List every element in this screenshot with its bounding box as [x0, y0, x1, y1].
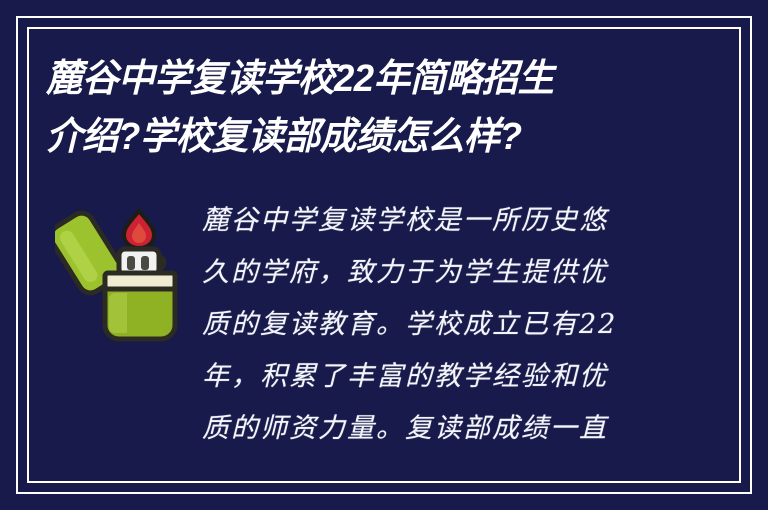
- article-paragraph: 麓谷中学复读学校是一所历史悠 久的学府，致力于为学生提供优 质的复读教育。学校成…: [194, 195, 722, 455]
- article-line: 质的师资力量。复读部成绩一直: [202, 403, 722, 455]
- page-title-line-1: 麓谷中学复读学校22年简略招生: [46, 50, 680, 108]
- page-title: 麓谷中学复读学校22年简略招生 介绍?学校复读部成绩怎么样?: [46, 50, 706, 166]
- article-line: 年，积累了丰富的教学经验和优: [202, 351, 722, 403]
- lighter-icon: [46, 195, 194, 351]
- content-area: 麓谷中学复读学校是一所历史悠 久的学府，致力于为学生提供优 质的复读教育。学校成…: [46, 195, 722, 485]
- page-title-line-2: 介绍?学校复读部成绩怎么样?: [46, 108, 680, 166]
- lighter-flame: [124, 211, 154, 248]
- lighter-icon-svg: [55, 201, 185, 351]
- article-line: 麓谷中学复读学校是一所历史悠: [202, 195, 722, 247]
- article-line: 久的学府，致力于为学生提供优: [202, 247, 722, 299]
- lighter-body: [105, 289, 175, 339]
- poster-canvas: 麓谷中学复读学校22年简略招生 介绍?学校复读部成绩怎么样?: [0, 0, 768, 510]
- article-line: 质的复读教育。学校成立已有22: [202, 299, 722, 351]
